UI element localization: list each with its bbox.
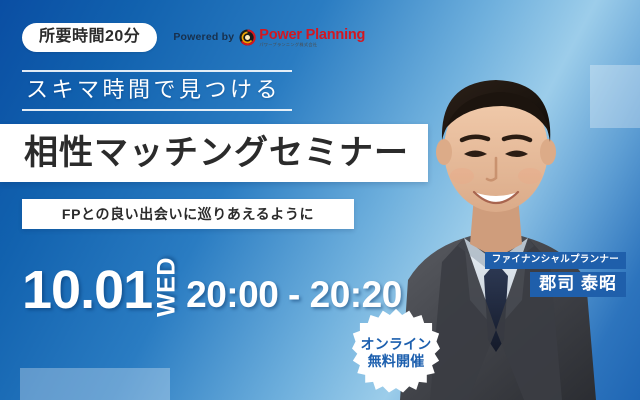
event-date: 10.01	[22, 266, 152, 316]
rule-bottom	[22, 109, 292, 111]
event-day-of-week-wrap: WED	[154, 258, 180, 316]
duration-badge: 所要時間20分	[22, 23, 157, 52]
powered-by-label: Powered by	[173, 31, 234, 43]
badge-line-1: オンライン	[361, 337, 432, 351]
tagline-band: FPとの良い出会いに巡りあえるように	[22, 199, 354, 229]
circle-swirl-icon	[239, 29, 256, 46]
brand-subtitle: パワープランニング株式会社	[259, 43, 365, 47]
power-planning-logo: Power Planning パワープランニング株式会社	[239, 28, 365, 48]
banner-header-row: 所要時間20分 Powered by Power Planning パワープラン…	[22, 23, 365, 52]
brand-name: Power Planning	[259, 28, 365, 43]
speaker-role: ファイナンシャルプランナー	[485, 252, 626, 269]
title-band: 相性マッチングセミナー	[0, 124, 428, 182]
speaker-group: ファイナンシャルプランナー 郡司 泰昭	[485, 252, 626, 297]
status-badge: オンライン 無料開催	[352, 308, 440, 396]
page-title: 相性マッチングセミナー	[0, 136, 409, 170]
seminar-banner: 所要時間20分 Powered by Power Planning パワープラン…	[0, 0, 640, 400]
subheading-group: スキマ時間で見つける	[0, 70, 292, 111]
tagline-text: FPとの良い出会いに巡りあえるように	[62, 207, 314, 221]
subheading-text: スキマ時間で見つける	[0, 72, 292, 109]
badge-line-2: 無料開催	[368, 354, 425, 368]
powered-by-group: Powered by Power Planning パワープランニング株式会社	[173, 28, 365, 48]
decorative-block-bottom-left	[20, 368, 170, 400]
schedule-group: 10.01 WED 20:00 - 20:20	[22, 258, 402, 316]
event-day-of-week: WED	[155, 257, 180, 317]
speaker-name: 郡司 泰昭	[530, 272, 626, 297]
